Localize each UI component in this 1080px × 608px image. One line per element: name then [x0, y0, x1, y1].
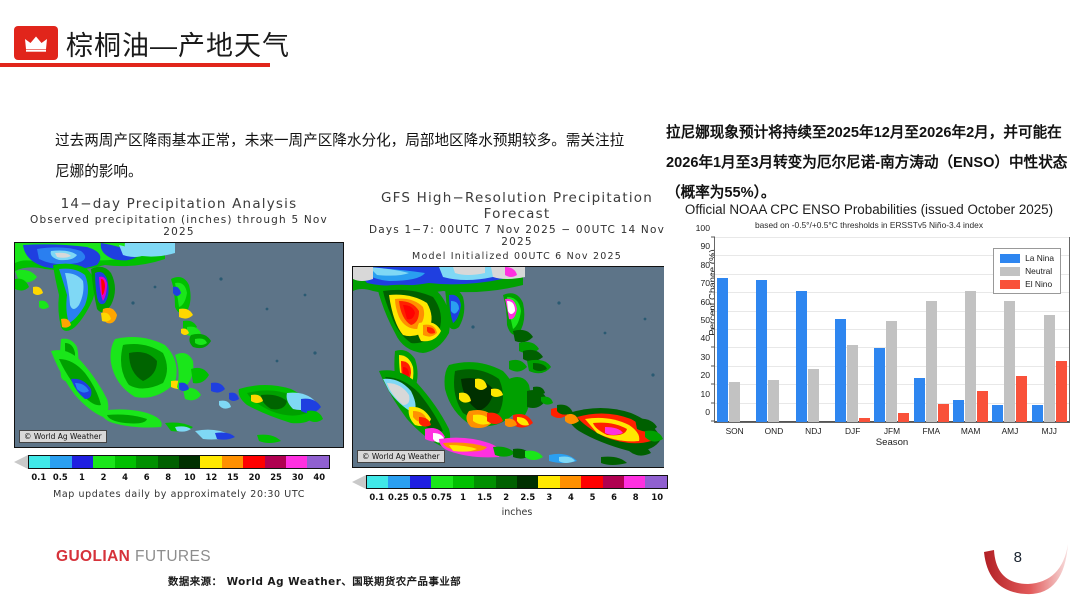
colorbar-swatches	[366, 475, 668, 489]
colorbar-tick: 2	[503, 492, 509, 502]
chart-bar	[938, 404, 949, 422]
colorbar-tick: 8	[633, 492, 639, 502]
left-paragraph: 过去两周产区降雨基本正常，未来一周产区降水分化，局部地区降水预期较多。需关注拉尼…	[55, 126, 635, 188]
chart-bar	[847, 345, 858, 422]
colorbar-tick: 0.1	[369, 492, 384, 502]
colorbar-left-cap	[352, 475, 366, 489]
chart-bar	[1032, 405, 1043, 422]
chart-legend-swatch	[1000, 280, 1020, 289]
colorbar-tick: 5	[590, 492, 596, 502]
forecast-colorbar-ticks: 0.10.250.50.7511.522.53456810	[352, 492, 682, 505]
colorbar-tick: 0.5	[53, 472, 68, 482]
chart-bar	[808, 369, 819, 422]
forecast-colorbar-units: inches	[352, 507, 682, 518]
chart-legend-item[interactable]: La Nina	[1000, 253, 1054, 263]
chart-bar-group: JFM	[872, 238, 911, 422]
colorbar-tick: 12	[206, 472, 218, 482]
page-title: 棕桐油—产地天气	[66, 24, 290, 63]
chart-bar-group: NDJ	[794, 238, 833, 422]
chart-bar	[886, 321, 897, 422]
brand-logo: GUOLIAN FUTURES	[56, 548, 211, 566]
colorbar-tick: 30	[292, 472, 304, 482]
colorbar-tick: 10	[651, 492, 663, 502]
chart-bar	[914, 378, 925, 422]
colorbar-swatches	[28, 455, 330, 469]
chart-legend-label: Neutral	[1025, 266, 1052, 276]
chart-y-tick: 0	[705, 407, 710, 417]
analysis-colorbar	[14, 455, 344, 471]
chart-x-tick: MJJ	[1042, 426, 1057, 436]
chart-bar-group: DJF	[833, 238, 872, 422]
brand-primary: GUOLIAN	[56, 548, 130, 565]
enso-probability-chart: Official NOAA CPC ENSO Probabilities (is…	[664, 202, 1074, 474]
chart-y-tick: 80	[700, 260, 710, 270]
right-paragraph: 拉尼娜现象预计将持续至2025年12月至2026年2月，并可能在2026年1月至…	[666, 118, 1070, 208]
chart-y-tick: 30	[700, 352, 710, 362]
colorbar-tick: 0.75	[431, 492, 452, 502]
colorbar-right-cap	[330, 455, 344, 469]
chart-bar	[729, 382, 740, 422]
colorbar-tick: 3	[546, 492, 552, 502]
colorbar-tick: 4	[568, 492, 574, 502]
crown-icon	[14, 26, 58, 60]
chart-bar-group: SON	[715, 238, 754, 422]
chart-x-tick: DJF	[845, 426, 860, 436]
chart-y-tick: 40	[700, 333, 710, 343]
colorbar-tick: 0.1	[31, 472, 46, 482]
chart-legend-swatch	[1000, 254, 1020, 263]
chart-x-tick: NDJ	[805, 426, 821, 436]
chart-plot-outer: Percent Chance (%) 010203040506070809010…	[664, 233, 1074, 458]
chart-bar	[835, 319, 846, 422]
colorbar-tick: 1	[460, 492, 466, 502]
analysis-map-subtitle: Observed precipitation (inches) through …	[14, 214, 344, 238]
colorbar-tick: 8	[165, 472, 171, 482]
chart-bar	[768, 380, 779, 422]
chart-bar	[953, 400, 964, 422]
chart-plot-area: 0102030405060708090100 SONONDNDJDJFJFMFM…	[714, 237, 1070, 423]
chart-legend: La NinaNeutralEl Nino	[993, 248, 1061, 294]
precipitation-forecast-panel: GFS High−Resolution Precipitation Foreca…	[352, 190, 682, 518]
chart-bar	[717, 278, 728, 422]
chart-legend-swatch	[1000, 267, 1020, 276]
chart-bar	[898, 413, 909, 422]
colorbar-tick: 2.5	[520, 492, 535, 502]
brand-secondary: FUTURES	[130, 548, 211, 565]
chart-bar	[1016, 376, 1027, 422]
chart-bar	[992, 405, 1003, 422]
chart-bar-group: MAM	[951, 238, 990, 422]
chart-bar	[859, 418, 870, 422]
colorbar-tick: 20	[249, 472, 261, 482]
chart-title: Official NOAA CPC ENSO Probabilities (is…	[664, 202, 1074, 217]
colorbar-tick: 1	[79, 472, 85, 482]
analysis-map-image: © World Ag Weather	[14, 242, 344, 448]
forecast-map-image: © World Ag Weather	[352, 266, 682, 468]
chart-x-tick: OND	[765, 426, 784, 436]
colorbar-tick: 10	[184, 472, 196, 482]
analysis-map-note: Map updates daily by approximately 20:30…	[14, 489, 344, 500]
title-underline	[0, 63, 270, 67]
colorbar-tick: 6	[144, 472, 150, 482]
chart-x-tick: MAM	[961, 426, 981, 436]
analysis-map-title: 14−day Precipitation Analysis	[14, 196, 344, 212]
chart-y-tick: 100	[696, 223, 710, 233]
chart-y-tick: 70	[700, 278, 710, 288]
forecast-map-subtitle2: Model Initialized 00UTC 6 Nov 2025	[352, 251, 682, 262]
chart-bar	[926, 301, 937, 422]
chart-legend-item[interactable]: El Nino	[1000, 279, 1054, 289]
chart-x-axis-label: Season	[714, 437, 1070, 448]
chart-legend-label: La Nina	[1025, 253, 1054, 263]
analysis-colorbar-ticks: 0.10.51246810121520253040	[14, 472, 344, 485]
colorbar-tick: 0.5	[413, 492, 428, 502]
source-note: 数据来源： World Ag Weather、国联期货农产品事业部	[168, 573, 461, 588]
colorbar-tick: 15	[227, 472, 239, 482]
chart-y-tick: 90	[700, 241, 710, 251]
chart-y-tick: 10	[700, 389, 710, 399]
forecast-map-title: GFS High−Resolution Precipitation Foreca…	[352, 190, 682, 222]
slide-header: 棕桐油—产地天气	[0, 0, 1080, 78]
chart-x-tick: FMA	[922, 426, 940, 436]
chart-x-tick: JFM	[884, 426, 900, 436]
chart-subtitle: based on -0.5°/+0.5°C thresholds in ERSS…	[664, 220, 1074, 230]
chart-legend-label: El Nino	[1025, 279, 1052, 289]
chart-bar-group: FMA	[912, 238, 951, 422]
chart-y-tick: 60	[700, 297, 710, 307]
chart-x-tick: SON	[726, 426, 744, 436]
colorbar-tick: 4	[122, 472, 128, 482]
chart-bar	[1004, 301, 1015, 422]
forecast-colorbar	[352, 475, 682, 491]
chart-bar	[796, 291, 807, 422]
chart-bar-group: OND	[754, 238, 793, 422]
forecast-map-subtitle: Days 1−7: 00UTC 7 Nov 2025 − 00UTC 14 No…	[352, 224, 682, 248]
chart-y-tick: 50	[700, 315, 710, 325]
colorbar-right-cap	[668, 475, 682, 489]
colorbar-tick: 1.5	[477, 492, 492, 502]
chart-bar	[965, 291, 976, 422]
forecast-map-watermark: © World Ag Weather	[357, 450, 445, 463]
analysis-map-watermark: © World Ag Weather	[19, 430, 107, 443]
chart-x-tick: AMJ	[1002, 426, 1019, 436]
colorbar-tick: 25	[270, 472, 282, 482]
colorbar-left-cap	[14, 455, 28, 469]
chart-y-tick: 20	[700, 370, 710, 380]
colorbar-tick: 40	[313, 472, 325, 482]
colorbar-tick: 2	[101, 472, 107, 482]
chart-bar	[1044, 315, 1055, 422]
page-swoosh-decoration	[978, 530, 1074, 604]
chart-bar	[977, 391, 988, 422]
chart-bar	[874, 348, 885, 422]
colorbar-tick: 6	[611, 492, 617, 502]
colorbar-tick: 0.25	[388, 492, 409, 502]
chart-bar	[756, 280, 767, 422]
chart-bar	[1056, 361, 1067, 422]
chart-legend-item[interactable]: Neutral	[1000, 266, 1054, 276]
precipitation-analysis-panel: 14−day Precipitation Analysis Observed p…	[14, 196, 344, 500]
